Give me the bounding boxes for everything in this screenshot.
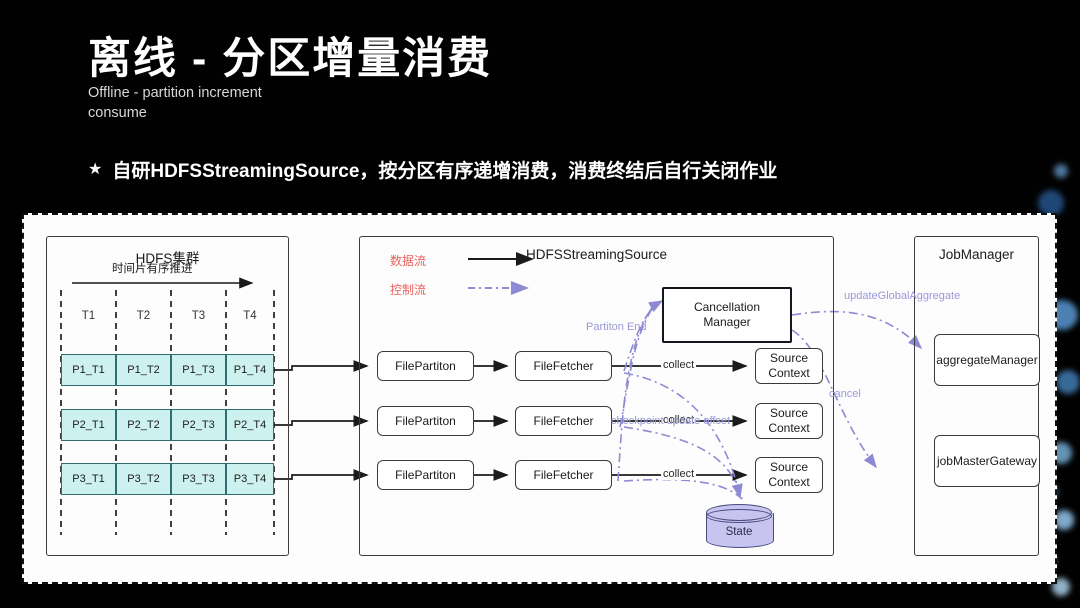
state-cylinder-lip: [706, 509, 772, 523]
group-jobmanager: JobManager: [914, 236, 1039, 556]
hdfs-cell: P3_T4: [226, 463, 274, 495]
cancellation-manager-line2: Manager: [703, 315, 750, 330]
hdfs-cell: P1_T1: [61, 354, 116, 386]
column-header-t2: T2: [116, 307, 171, 325]
bullet-point: ★ 自研HDFSStreamingSource，按分区有序递增消费，消费终结后自…: [88, 156, 777, 183]
star-icon: ★: [88, 162, 102, 178]
state-cylinder: State: [706, 504, 772, 550]
file-partition-box[interactable]: FilePartiton: [377, 351, 474, 381]
file-partition-box[interactable]: FilePartiton: [377, 460, 474, 490]
file-fetcher-box[interactable]: FileFetcher: [515, 460, 612, 490]
hdfs-cell: P3_T3: [171, 463, 226, 495]
source-context-line1: Source: [770, 351, 808, 366]
aggregate-manager-box[interactable]: aggregateManager: [934, 334, 1040, 386]
hdfs-cell: P2_T2: [116, 409, 171, 441]
column-header-t4: T4: [226, 307, 274, 325]
cancellation-manager-box[interactable]: Cancellation Manager: [662, 287, 792, 343]
legend-control-flow: 控制流: [390, 281, 426, 298]
source-context-box[interactable]: Source Context: [755, 348, 823, 384]
hdfs-cell: P2_T4: [226, 409, 274, 441]
partition-end-label: Partiton End: [586, 321, 647, 333]
page-title: 离线 - 分区增量消费: [88, 36, 492, 82]
hdfs-cell: P3_T2: [116, 463, 171, 495]
hdfs-cell: P2_T1: [61, 409, 116, 441]
group-hdfs: HDFS集群: [46, 236, 289, 556]
group-jobmanager-title: JobManager: [915, 247, 1038, 262]
source-context-line2: Context: [768, 475, 809, 490]
source-context-line2: Context: [768, 366, 809, 381]
column-header-t3: T3: [171, 307, 226, 325]
collect-label: collect: [661, 359, 696, 371]
source-context-line1: Source: [770, 406, 808, 421]
timeline-label: 时间片有序推进: [112, 260, 193, 276]
group-streaming-title: HDFSStreamingSource: [360, 247, 833, 262]
job-master-gateway-box[interactable]: jobMasterGateway: [934, 435, 1040, 487]
column-header-t1: T1: [61, 307, 116, 325]
page-subtitle: Offline - partition increment consume: [88, 84, 288, 122]
collect-label: collect: [661, 468, 696, 480]
hdfs-cell: P3_T1: [61, 463, 116, 495]
cancel-label: cancel: [829, 388, 861, 400]
source-context-line2: Context: [768, 421, 809, 436]
file-fetcher-box[interactable]: FileFetcher: [515, 406, 612, 436]
diagram-panel: HDFS集群 HDFSStreamingSource JobManager 时间…: [22, 213, 1057, 584]
state-label: State: [706, 526, 772, 538]
hdfs-cell: P1_T3: [171, 354, 226, 386]
source-context-box[interactable]: Source Context: [755, 457, 823, 493]
hdfs-cell: P2_T3: [171, 409, 226, 441]
file-partition-box[interactable]: FilePartiton: [377, 406, 474, 436]
update-global-aggregate-label: updateGlobalAggregate: [844, 290, 960, 302]
file-fetcher-box[interactable]: FileFetcher: [515, 351, 612, 381]
slide-header: 离线 - 分区增量消费 Offline - partition incremen…: [88, 36, 492, 123]
source-context-box[interactable]: Source Context: [755, 403, 823, 439]
legend-data-flow: 数据流: [390, 252, 426, 269]
source-context-line1: Source: [770, 460, 808, 475]
checkpoint-update-offset-label: checkpoint update offset: [611, 415, 730, 427]
cancellation-manager-line1: Cancellation: [694, 300, 760, 315]
hdfs-cell: P1_T4: [226, 354, 274, 386]
hdfs-cell: P1_T2: [116, 354, 171, 386]
bullet-text: 自研HDFSStreamingSource，按分区有序递增消费，消费终结后自行关…: [112, 156, 777, 183]
